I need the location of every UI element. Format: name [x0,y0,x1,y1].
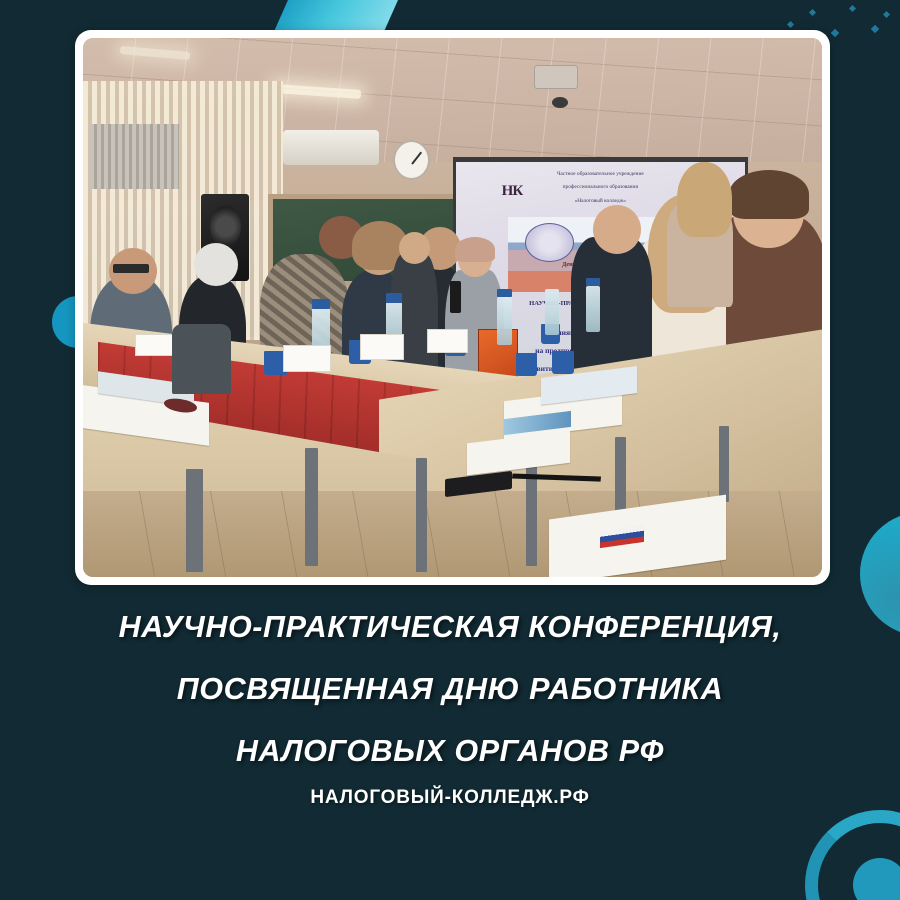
water-bottle [497,297,512,346]
college-logo: НК [487,173,536,210]
speaker-hair [455,237,495,262]
eyeglasses [113,264,150,273]
participant-hair [729,170,809,219]
water-bottle [586,286,600,332]
table-leg [305,448,318,567]
bottle-cap [312,299,330,309]
caption-line-2: ПОСВЯЩЕННАЯ ДНЮ РАБОТНИКА [0,658,900,720]
bottle-cap [497,289,512,298]
radiator [90,124,179,189]
bottle-cap [386,293,402,302]
chair [172,324,231,394]
accent-dot [853,858,900,900]
participant-head [593,205,641,254]
caption-block: НАУЧНО-ПРАКТИЧЕСКАЯ КОНФЕРЕНЦИЯ, ПОСВЯЩЕ… [0,596,900,782]
participant-head [194,243,238,286]
table-leg [186,469,202,571]
projector [534,65,578,89]
participant-hair [677,162,732,237]
name-tent-card [283,345,331,372]
caption-line-3: НАЛОГОВЫХ ОРГАНОВ РФ [0,720,900,782]
website-url: НАЛОГОВЫЙ-КОЛЛЕДЖ.РФ [0,787,900,809]
table-leg [416,458,428,571]
air-conditioner [283,130,379,165]
table-leg [719,426,729,501]
paper-cup [552,351,574,375]
accent-ring [805,810,900,900]
paper-cup [516,353,537,376]
name-tent-card [360,334,404,360]
poster-canvas: Частное образовательное учреждение профе… [0,0,900,900]
water-bottle [545,289,559,335]
microphone [450,281,461,313]
caption-line-1: НАУЧНО-ПРАКТИЧЕСКАЯ КОНФЕРЕНЦИЯ, [0,596,900,658]
conference-photo: Частное образовательное учреждение профе… [83,38,822,577]
photo-frame: Частное образовательное учреждение профе… [75,30,830,585]
bottle-cap [586,278,600,286]
name-tent-card [427,329,468,353]
